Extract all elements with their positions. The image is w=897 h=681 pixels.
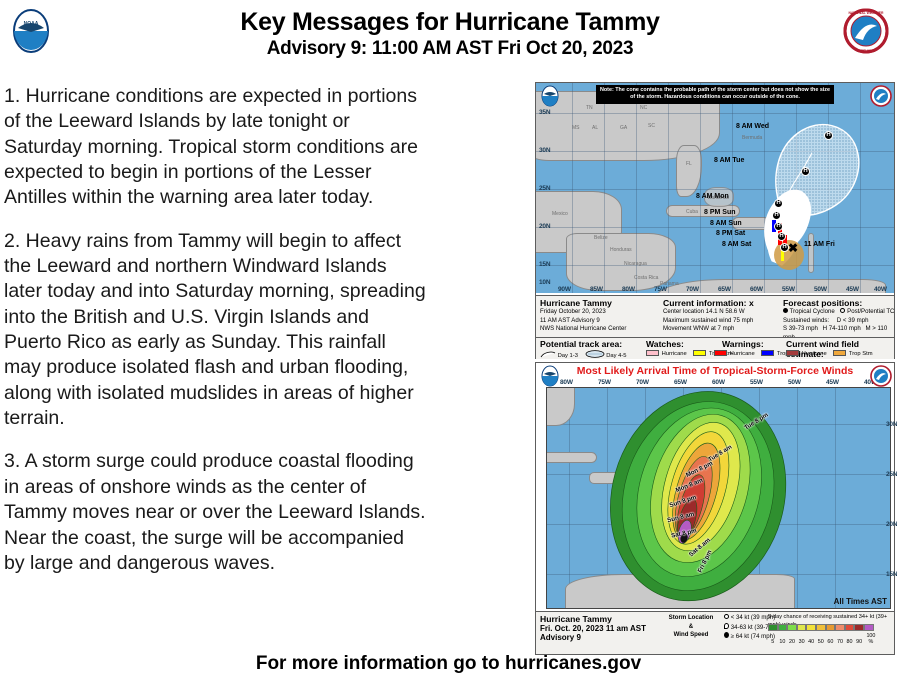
ampersand-label: & xyxy=(660,623,722,632)
page-title: Key Messages for Hurricane Tammy xyxy=(150,8,750,37)
storm-identity-block: Hurricane Tammy Friday October 20, 2023 … xyxy=(540,298,670,334)
legend-tropical-cyclone: Tropical Cyclone xyxy=(790,308,835,315)
scale-swatch-30 xyxy=(797,624,807,631)
scale-swatch-50 xyxy=(816,624,826,631)
scale-swatch-60 xyxy=(826,624,836,631)
legend-wind-h: H 74-110 mph xyxy=(823,325,861,332)
lon-label: 65W xyxy=(674,379,687,386)
arrival-map-area[interactable]: Tue 8 pm Tue 8 am Mon 8 pm Mon 8 am Sun … xyxy=(546,387,891,609)
open-circle-icon xyxy=(724,614,729,619)
day45-cone-icon xyxy=(585,350,605,358)
nws-mini-logo xyxy=(870,85,892,107)
arrival-advisory: Advisory 9 xyxy=(540,633,658,642)
lon-label: 75W xyxy=(598,379,611,386)
forecast-positions-heading: Forecast positions: xyxy=(783,298,895,308)
lon-label: 80W xyxy=(560,379,573,386)
nws-logo: NATIONAL WEATHER SERVICE xyxy=(843,8,889,54)
noaa-logo: NOAA xyxy=(8,8,54,54)
info-advisory: 11 AM AST Advisory 9 xyxy=(540,317,670,326)
arrival-map-title: Most Likely Arrival Time of Tropical-Sto… xyxy=(536,365,894,377)
legend-field-tropstm: Trop Stm xyxy=(849,351,873,357)
storm-location-labels: Storm Location & Wind Speed xyxy=(660,614,722,640)
forecast-positions-block: Forecast positions: Tropical Cyclone Pos… xyxy=(783,298,895,343)
cone-legend-panel: Potential track area: Day 1-3 Day 4-5 Wa… xyxy=(536,337,894,359)
arrival-probability-contours xyxy=(547,388,891,609)
filled-circle-icon xyxy=(724,632,729,638)
legend-watch-hurricane: Hurricane xyxy=(662,351,687,357)
forecast-label-8am-sun: 8 AM Sun xyxy=(710,220,742,227)
forecast-label-11am-fri: 11 AM Fri xyxy=(804,241,835,248)
arrival-time-graphic[interactable]: Most Likely Arrival Time of Tropical-Sto… xyxy=(535,362,895,655)
svg-text:NATIONAL WEATHER: NATIONAL WEATHER xyxy=(848,11,884,15)
legend-field-hurricane: Hurricane xyxy=(802,351,827,357)
watch-hurricane-swatch xyxy=(646,350,659,356)
warning-hurricane-swatch xyxy=(714,350,727,356)
noaa-mini-logo xyxy=(539,365,561,387)
cone-of-uncertainty xyxy=(536,83,894,293)
legend-wind-d: D < 39 mph xyxy=(837,317,869,324)
scale-swatch-70 xyxy=(835,624,845,631)
lon-label: 55W xyxy=(750,379,763,386)
warnings-heading: Warnings: xyxy=(722,339,764,349)
cone-map-area[interactable]: 35N 30N 25N 20N 15N 10N 90W 85W 80W 75W … xyxy=(536,83,894,293)
scale-swatch-100 xyxy=(864,624,874,631)
forecast-label-8pm-sat: 8 PM Sat xyxy=(716,230,745,237)
info-movement: Movement WNW at 7 mph xyxy=(663,325,789,334)
legend-day13: Day 1-3 xyxy=(558,353,578,359)
scale-num-100: 100 % xyxy=(864,633,878,645)
arrival-info-panel: Hurricane Tammy Fri. Oct. 20, 2023 11 am… xyxy=(536,611,894,654)
scale-num-70: 70 xyxy=(835,639,845,645)
probability-scale-block: 5-day chance of receiving sustained 34+ … xyxy=(768,614,894,630)
scale-swatch-80 xyxy=(845,624,855,631)
legend-wind-s: S 39-73 mph xyxy=(783,325,818,332)
scale-num-90: 90 xyxy=(854,639,864,645)
info-date: Friday October 20, 2023 xyxy=(540,308,670,317)
all-times-label: All Times AST xyxy=(834,597,887,606)
current-information-block: Current information: x Center location 1… xyxy=(663,298,789,334)
scale-num-30: 30 xyxy=(797,639,807,645)
info-storm-name: Hurricane Tammy xyxy=(540,298,670,308)
current-info-heading: Current information: xyxy=(663,298,747,308)
svg-text:NOAA: NOAA xyxy=(24,21,39,27)
warning-tropstm-swatch xyxy=(761,350,774,356)
forecast-dot-8pm-sun: H xyxy=(772,211,781,220)
current-position-marker: ✖ xyxy=(788,243,798,253)
filled-circle-icon xyxy=(783,308,788,313)
wind-speed-label: Wind Speed xyxy=(660,631,722,640)
watch-tropstm-swatch xyxy=(693,350,706,356)
legend-post-potential: Post/Potential TC xyxy=(847,308,894,315)
advisory-subtitle: Advisory 9: 11:00 AM AST Fri Oct 20, 202… xyxy=(150,38,750,60)
key-messages-graphic: NOAA Key Messages for Hurricane Tammy Ad… xyxy=(0,0,897,681)
forecast-label-8am-mon: 8 AM Mon xyxy=(696,193,729,200)
scale-num-80: 80 xyxy=(845,639,855,645)
forecast-dot-8am-mon: H xyxy=(774,199,783,208)
lon-label: 50W xyxy=(788,379,801,386)
forecast-dot-8am-tue: H xyxy=(801,167,810,176)
forecast-dot-8am-sun: H xyxy=(774,222,783,231)
forecast-label-8am-tue: 8 AM Tue xyxy=(714,157,744,164)
key-message-2: 2. Heavy rains from Tammy will begin to … xyxy=(4,229,428,432)
key-message-1: 1. Hurricane conditions are expected in … xyxy=(4,84,428,211)
forecast-dot-8am-wed: H xyxy=(824,131,833,140)
watches-heading: Watches: xyxy=(646,339,684,349)
field-hurricane-swatch xyxy=(786,350,799,356)
lon-label: 70W xyxy=(636,379,649,386)
key-messages-list: 1. Hurricane conditions are expected in … xyxy=(4,84,428,594)
scale-num-20: 20 xyxy=(787,639,797,645)
scale-swatch-5 xyxy=(768,624,778,631)
forecast-label-8pm-sun: 8 PM Sun xyxy=(704,209,736,216)
scale-num-50: 50 xyxy=(816,639,826,645)
scale-swatch-40 xyxy=(806,624,816,631)
field-tropstm-swatch xyxy=(833,350,846,356)
arrival-storm-name: Hurricane Tammy xyxy=(540,614,658,624)
probability-scale-numbers: 5102030405060708090100 % xyxy=(768,633,878,645)
scale-swatch-10 xyxy=(778,624,788,631)
scale-num-5: 5 xyxy=(768,639,778,645)
info-center-location: Center location 14.1 N 58.6 W xyxy=(663,308,789,317)
lon-label: 60W xyxy=(712,379,725,386)
scale-swatch-90 xyxy=(854,624,864,631)
cone-note: Note: The cone contains the probable pat… xyxy=(596,85,834,104)
cone-info-panel: Hurricane Tammy Friday October 20, 2023 … xyxy=(536,295,894,337)
probability-color-bar xyxy=(768,624,874,631)
potential-track-heading: Potential track area: xyxy=(540,339,622,349)
forecast-label-8am-sat: 8 AM Sat xyxy=(722,241,751,248)
forecast-label-8am-wed: 8 AM Wed xyxy=(736,123,769,130)
noaa-mini-logo xyxy=(539,85,561,107)
scale-num-10: 10 xyxy=(778,639,788,645)
lon-label: 45W xyxy=(826,379,839,386)
arrival-datetime: Fri. Oct. 20, 2023 11 am AST xyxy=(540,624,658,633)
legend-sustained-winds: Sustained winds: xyxy=(783,317,829,324)
key-message-3: 3. A storm surge could produce coastal f… xyxy=(4,449,428,576)
day13-cone-icon xyxy=(540,350,556,358)
forecast-cone-graphic[interactable]: 35N 30N 25N 20N 15N 10N 90W 85W 80W 75W … xyxy=(535,82,895,359)
scale-num-40: 40 xyxy=(806,639,816,645)
footer-text: For more information go to hurricanes.go… xyxy=(0,653,897,675)
info-max-wind: Maximum sustained wind 75 mph xyxy=(663,317,789,326)
svg-text:SERVICE: SERVICE xyxy=(859,49,875,53)
open-circle-icon xyxy=(840,308,845,313)
nws-mini-logo xyxy=(870,365,892,387)
storm-location-label: Storm Location xyxy=(660,614,722,623)
scale-swatch-20 xyxy=(787,624,797,631)
arrival-storm-block: Hurricane Tammy Fri. Oct. 20, 2023 11 am… xyxy=(540,614,658,642)
half-circle-icon xyxy=(724,623,729,629)
scale-num-60: 60 xyxy=(826,639,836,645)
current-info-symbol: x xyxy=(749,298,754,308)
legend-warn-hurricane: Hurricane xyxy=(730,351,755,357)
forecast-dot-8pm-sat: H xyxy=(777,232,786,241)
info-agency: NWS National Hurricane Center xyxy=(540,325,670,334)
legend-day45: Day 4-5 xyxy=(606,353,626,359)
